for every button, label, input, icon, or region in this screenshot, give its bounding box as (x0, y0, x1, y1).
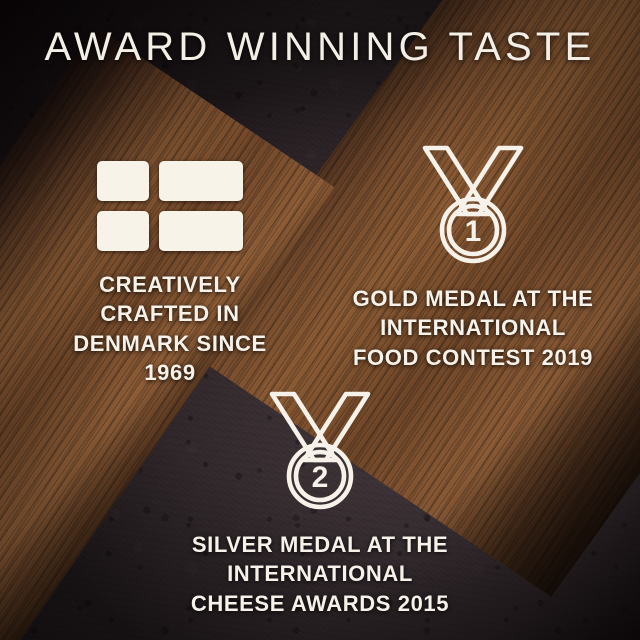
medal-icon: 2 (264, 388, 376, 514)
medal-number: 1 (465, 215, 482, 248)
caption-line: CRAFTED IN (20, 299, 320, 328)
caption-line: DENMARK SINCE (20, 329, 320, 358)
caption-line: CREATIVELY (20, 270, 320, 299)
award-item-gold: 1 GOLD MEDAL AT THE INTERNATIONAL FOOD C… (320, 142, 626, 372)
caption-line: 1969 (20, 358, 320, 387)
flag-quadrant-bottom-left (97, 211, 149, 251)
flag-quadrant-top-right (159, 161, 243, 201)
award-caption-denmark: CREATIVELY CRAFTED IN DENMARK SINCE 1969 (20, 270, 320, 388)
award-item-silver: 2 SILVER MEDAL AT THE INTERNATIONAL CHEE… (170, 388, 470, 618)
award-item-denmark: CREATIVELY CRAFTED IN DENMARK SINCE 1969 (20, 160, 320, 388)
caption-line: INTERNATIONAL (170, 559, 470, 588)
caption-line: CHEESE AWARDS 2015 (170, 589, 470, 618)
award-caption-gold: GOLD MEDAL AT THE INTERNATIONAL FOOD CON… (320, 284, 626, 372)
page-title: AWARD WINNING TASTE (0, 26, 640, 68)
caption-line: GOLD MEDAL AT THE (320, 284, 626, 313)
flag-quadrant-bottom-right (159, 211, 243, 251)
flag-quadrant-top-left (97, 161, 149, 201)
medal-number: 2 (312, 461, 329, 494)
caption-line: SILVER MEDAL AT THE (170, 530, 470, 559)
award-winning-taste-graphic: AWARD WINNING TASTE CREATIVELY CRAFTED I… (0, 0, 640, 640)
danish-flag-icon (20, 160, 320, 270)
award-caption-silver: SILVER MEDAL AT THE INTERNATIONAL CHEESE… (170, 530, 470, 618)
caption-line: INTERNATIONAL (320, 313, 626, 342)
medal-icon: 1 (417, 142, 529, 268)
content-layer: AWARD WINNING TASTE CREATIVELY CRAFTED I… (0, 0, 640, 640)
caption-line: FOOD CONTEST 2019 (320, 343, 626, 372)
